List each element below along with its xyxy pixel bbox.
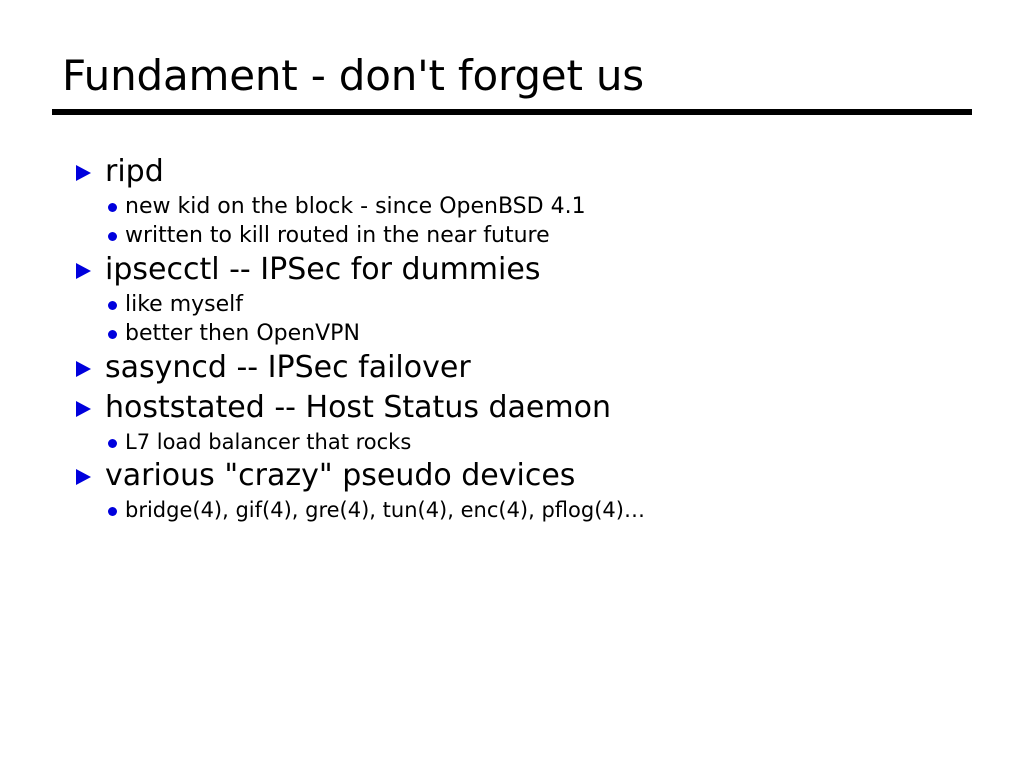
outline-item-level2: written to kill routed in the near futur… [0,221,1024,250]
outline-item-level2: L7 load balancer that rocks [0,428,1024,456]
outline-item-label: like myself [125,292,243,317]
title-underline-rule [52,109,972,115]
outline-item-level2: like myself [0,290,1024,319]
outline-item-level1: hoststated -- Host Status daemon [0,388,1024,428]
dot-bullet-icon [108,203,117,212]
outline-item-level1: ipsecctl -- IPSec for dummies [0,250,1024,290]
slide-title-block: Fundament - don't forget us [52,52,972,115]
outline-item-label: new kid on the block - since OpenBSD 4.1 [125,194,586,219]
outline-item-label: better then OpenVPN [125,321,360,346]
dot-bullet-icon [108,330,117,339]
outline-item-label: ripd [105,154,164,189]
outline-item-level1: ripd [0,152,1024,192]
outline-item-label: written to kill routed in the near futur… [125,223,550,248]
triangle-bullet-icon [76,469,91,485]
outline-item-level2: new kid on the block - since OpenBSD 4.1 [0,192,1024,221]
outline-item-level2: better then OpenVPN [0,319,1024,348]
outline-item-label: hoststated -- Host Status daemon [105,390,611,425]
outline-item-label: sasyncd -- IPSec failover [105,350,471,385]
dot-bullet-icon [108,301,117,310]
triangle-bullet-icon [76,165,91,181]
outline-item-label: bridge(4), gif(4), gre(4), tun(4), enc(4… [125,498,645,522]
slide-outline-content: ripd new kid on the block - since OpenBS… [0,152,1024,524]
dot-bullet-icon [108,232,117,241]
outline-item-level1: various "crazy" pseudo devices [0,456,1024,496]
outline-item-label: L7 load balancer that rocks [125,430,411,454]
outline-item-level1: sasyncd -- IPSec failover [0,348,1024,388]
page-title: Fundament - don't forget us [52,52,972,106]
dot-bullet-icon [108,507,117,516]
dot-bullet-icon [108,439,117,448]
presentation-slide: Fundament - don't forget us ripd new kid… [0,0,1024,768]
outline-item-label: ipsecctl -- IPSec for dummies [105,252,540,287]
outline-item-level2: bridge(4), gif(4), gre(4), tun(4), enc(4… [0,496,1024,524]
triangle-bullet-icon [76,361,91,377]
triangle-bullet-icon [76,263,91,279]
outline-item-label: various "crazy" pseudo devices [105,458,575,493]
triangle-bullet-icon [76,401,91,417]
